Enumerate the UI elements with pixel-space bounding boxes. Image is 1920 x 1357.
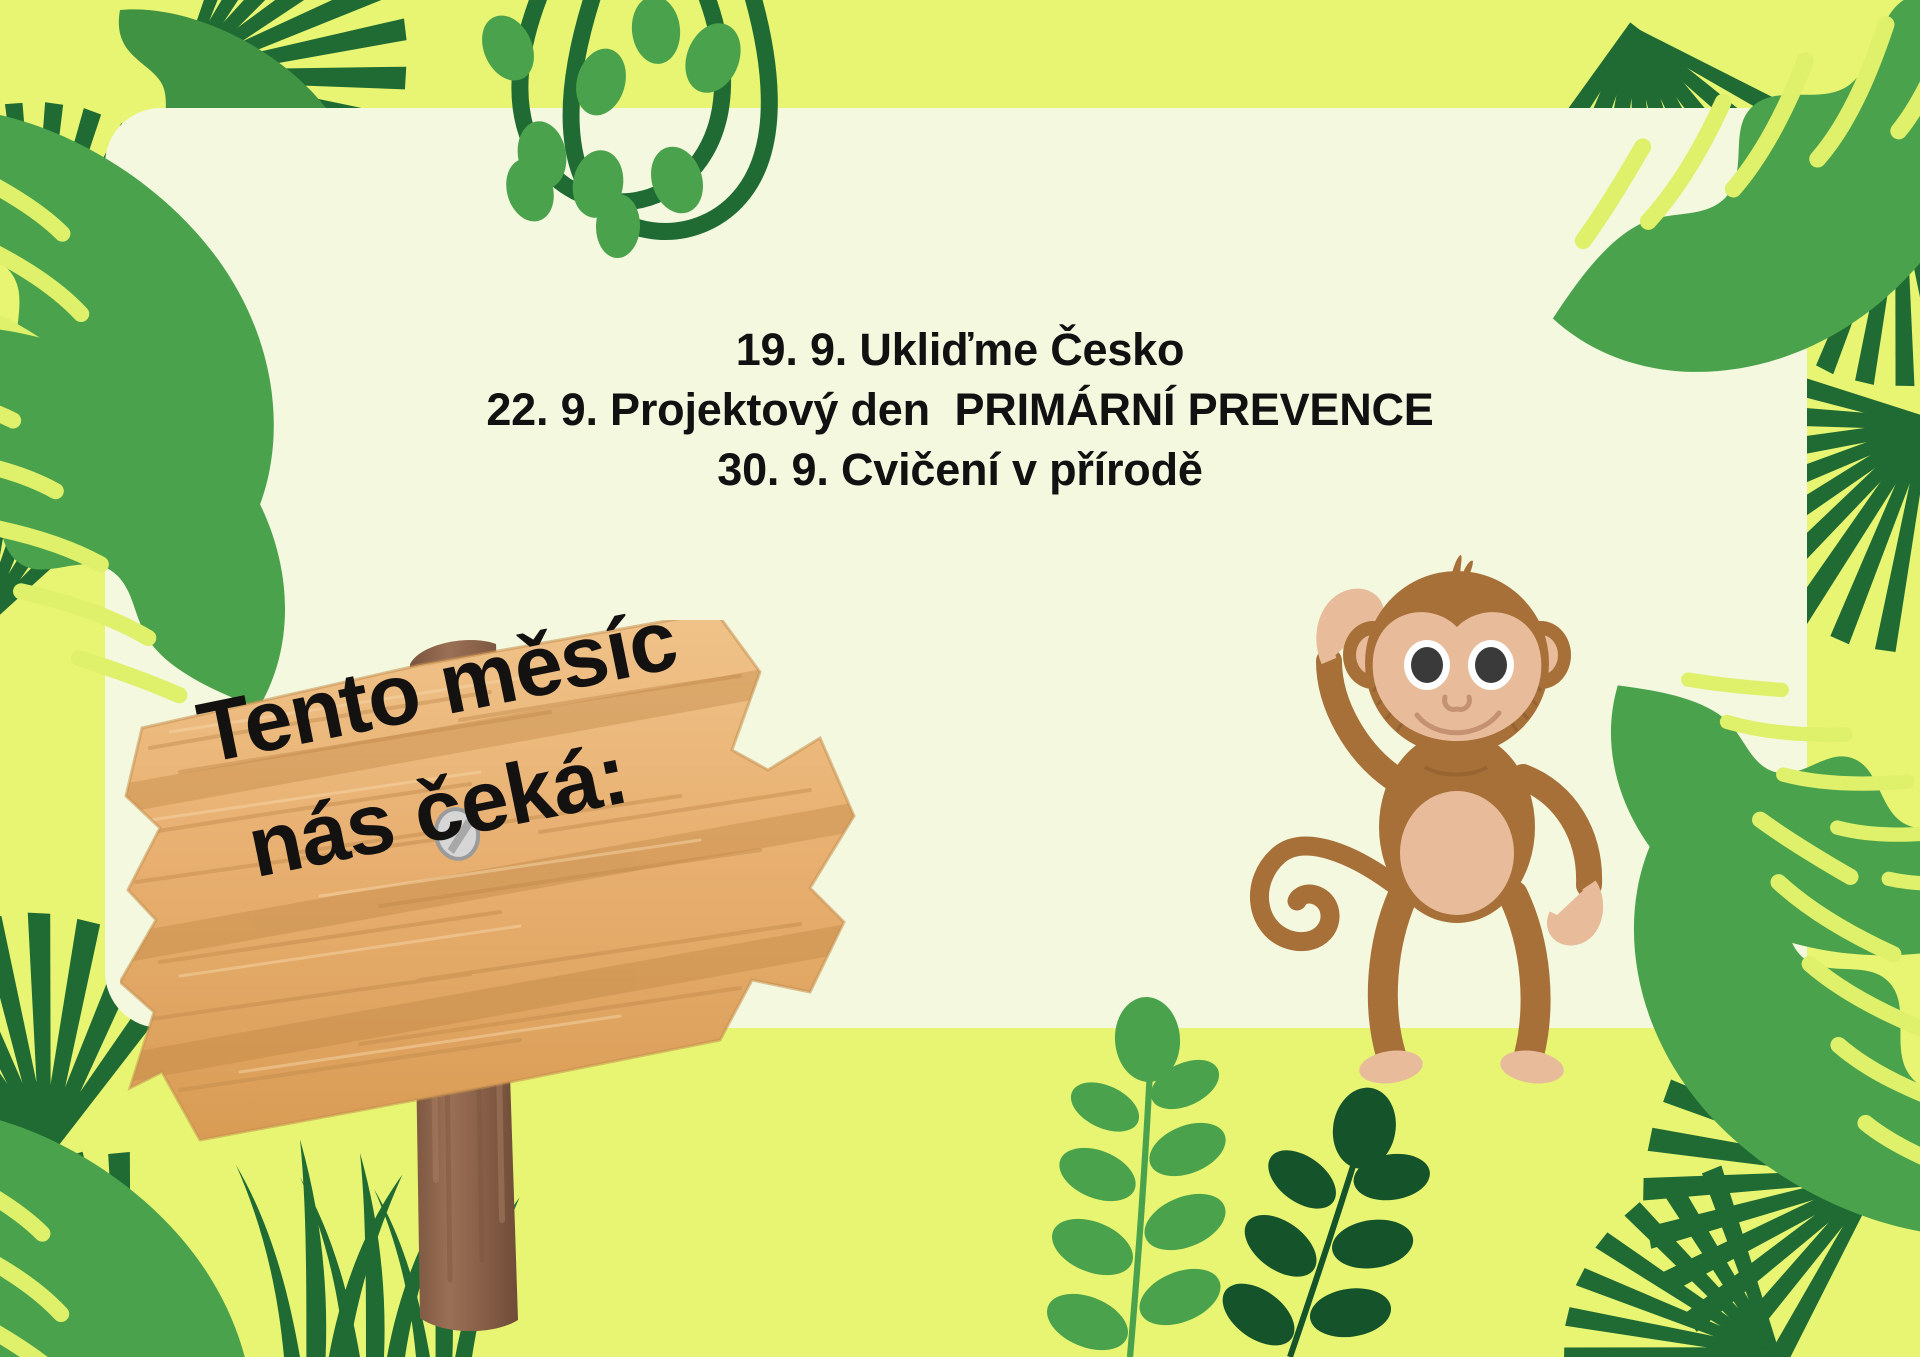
poster-canvas: 19. 9. Ukliďme Česko 22. 9. Projektový d… <box>0 0 1920 1357</box>
announcement-line-2: 22. 9. Projektový den PRIMÁRNÍ PREVENCE <box>0 380 1920 440</box>
monkey-illustration <box>1245 555 1665 1115</box>
announcement-line-3: 30. 9. Cvičení v přírodě <box>0 440 1920 500</box>
monkey-eye-right <box>1468 640 1514 690</box>
announcement-text: 19. 9. Ukliďme Česko 22. 9. Projektový d… <box>0 320 1920 500</box>
monkey-tail <box>1259 846 1395 942</box>
announcement-line-1: 19. 9. Ukliďme Česko <box>0 320 1920 380</box>
monkey-foot-left <box>1357 1047 1425 1088</box>
monkey-foot-right <box>1498 1047 1566 1088</box>
monkey-body <box>1379 731 1535 923</box>
monkey-legs <box>1357 895 1566 1087</box>
monkey-head <box>1343 555 1571 755</box>
monkey-eye-left <box>1404 640 1450 690</box>
leaf-sprig-light <box>1039 995 1234 1357</box>
